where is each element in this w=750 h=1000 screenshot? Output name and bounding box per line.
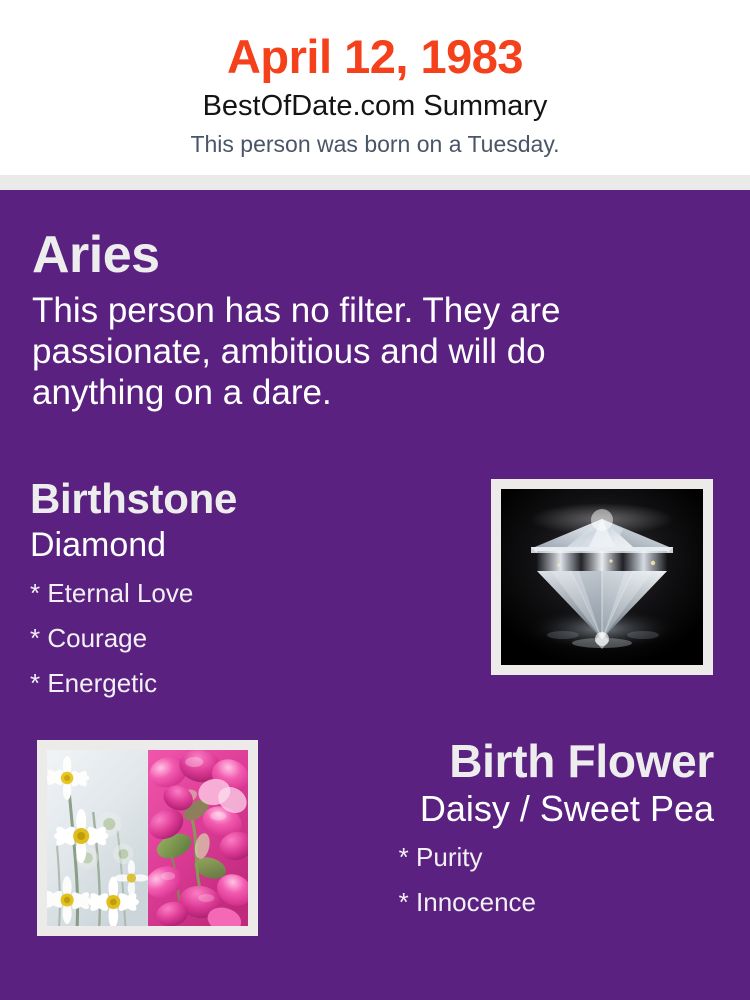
header: April 12, 1983 BestOfDate.com Summary Th… (0, 0, 750, 175)
zodiac-description: This person has no filter. They are pass… (32, 290, 632, 413)
zodiac-section: Aries This person has no filter. They ar… (32, 226, 652, 413)
list-item: * Energetic (30, 661, 470, 706)
list-item: * Purity (392, 835, 536, 880)
zodiac-name: Aries (32, 226, 652, 284)
weekday-note: This person was born on a Tuesday. (0, 129, 750, 159)
birth-flower-name: Daisy / Sweet Pea (274, 788, 714, 830)
daisy-photo-half (47, 750, 148, 926)
sweet-pea-icon (148, 750, 249, 926)
content-panel: Aries This person has no filter. They ar… (0, 190, 750, 1000)
birth-flower-photo (47, 750, 248, 926)
diamond-icon (501, 489, 703, 665)
birth-flower-traits-wrap: * Purity * Innocence (392, 835, 536, 925)
header-divider (0, 175, 750, 190)
birth-flower-image-frame (37, 740, 258, 936)
birth-flower-section: Birth Flower Daisy / Sweet Pea * Purity … (274, 735, 714, 925)
birthstone-section: Birthstone Diamond * Eternal Love * Cour… (30, 475, 470, 706)
birthstone-image-frame (491, 479, 713, 675)
birth-flower-heading: Birth Flower (274, 735, 714, 787)
birth-flower-trait-list: * Purity * Innocence (392, 835, 536, 925)
sweet-pea-photo-half (148, 750, 249, 926)
page-title: April 12, 1983 (0, 29, 750, 84)
birthstone-name: Diamond (30, 525, 470, 565)
daisy-icon (47, 750, 148, 926)
list-item: * Eternal Love (30, 571, 470, 616)
list-item: * Innocence (392, 880, 536, 925)
diamond-photo (501, 489, 703, 665)
list-item: * Courage (30, 616, 470, 661)
site-subtitle: BestOfDate.com Summary (0, 88, 750, 124)
birthstone-heading: Birthstone (30, 475, 470, 523)
birthstone-trait-list: * Eternal Love * Courage * Energetic (30, 571, 470, 706)
summary-card: April 12, 1983 BestOfDate.com Summary Th… (0, 0, 750, 1000)
